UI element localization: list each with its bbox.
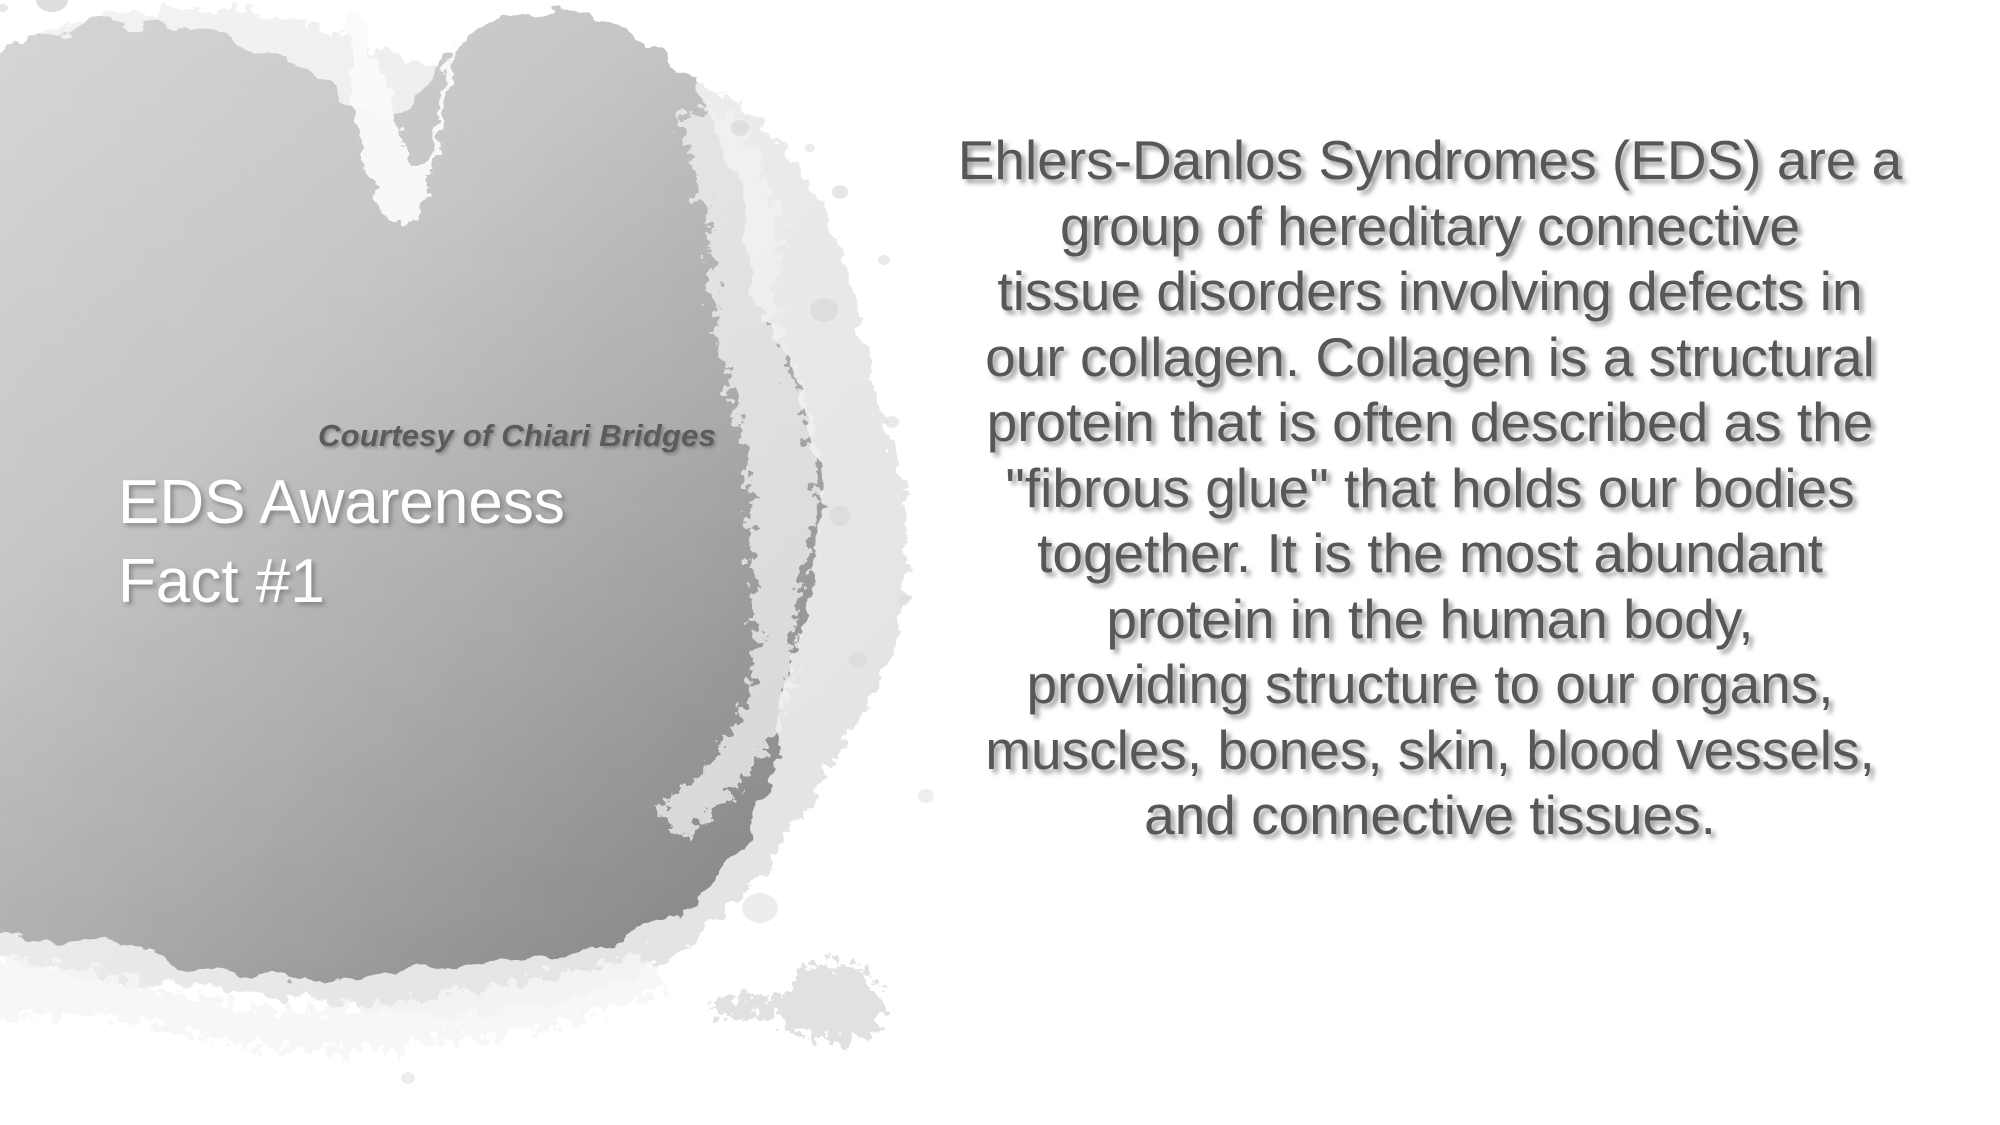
fact-body-text: Ehlers-Danlos Syndromes (EDS) are a grou… (900, 128, 1960, 849)
body-line: providing structure to our organs, (900, 652, 1960, 718)
body-line: group of hereditary connective (900, 194, 1960, 260)
slide-canvas: Courtesy of Chiari Bridges EDS Awareness… (0, 0, 2000, 1125)
body-line: our collagen. Collagen is a structural (900, 325, 1960, 391)
body-line: "fibrous glue" that holds our bodies (900, 456, 1960, 522)
body-line: Ehlers-Danlos Syndromes (EDS) are a (900, 128, 1960, 194)
body-line: tissue disorders involving defects in (900, 259, 1960, 325)
slide-title: EDS Awareness Fact #1 (118, 463, 738, 621)
courtesy-credit: Courtesy of Chiari Bridges (318, 418, 716, 454)
body-line: protein that is often described as the (900, 390, 1960, 456)
body-line: protein in the human body, (900, 587, 1960, 653)
body-line: and connective tissues. (900, 783, 1960, 849)
title-line-1: EDS Awareness (118, 463, 738, 542)
body-line: muscles, bones, skin, blood vessels, (900, 718, 1960, 784)
body-line: together. It is the most abundant (900, 521, 1960, 587)
title-line-2: Fact #1 (118, 542, 738, 621)
